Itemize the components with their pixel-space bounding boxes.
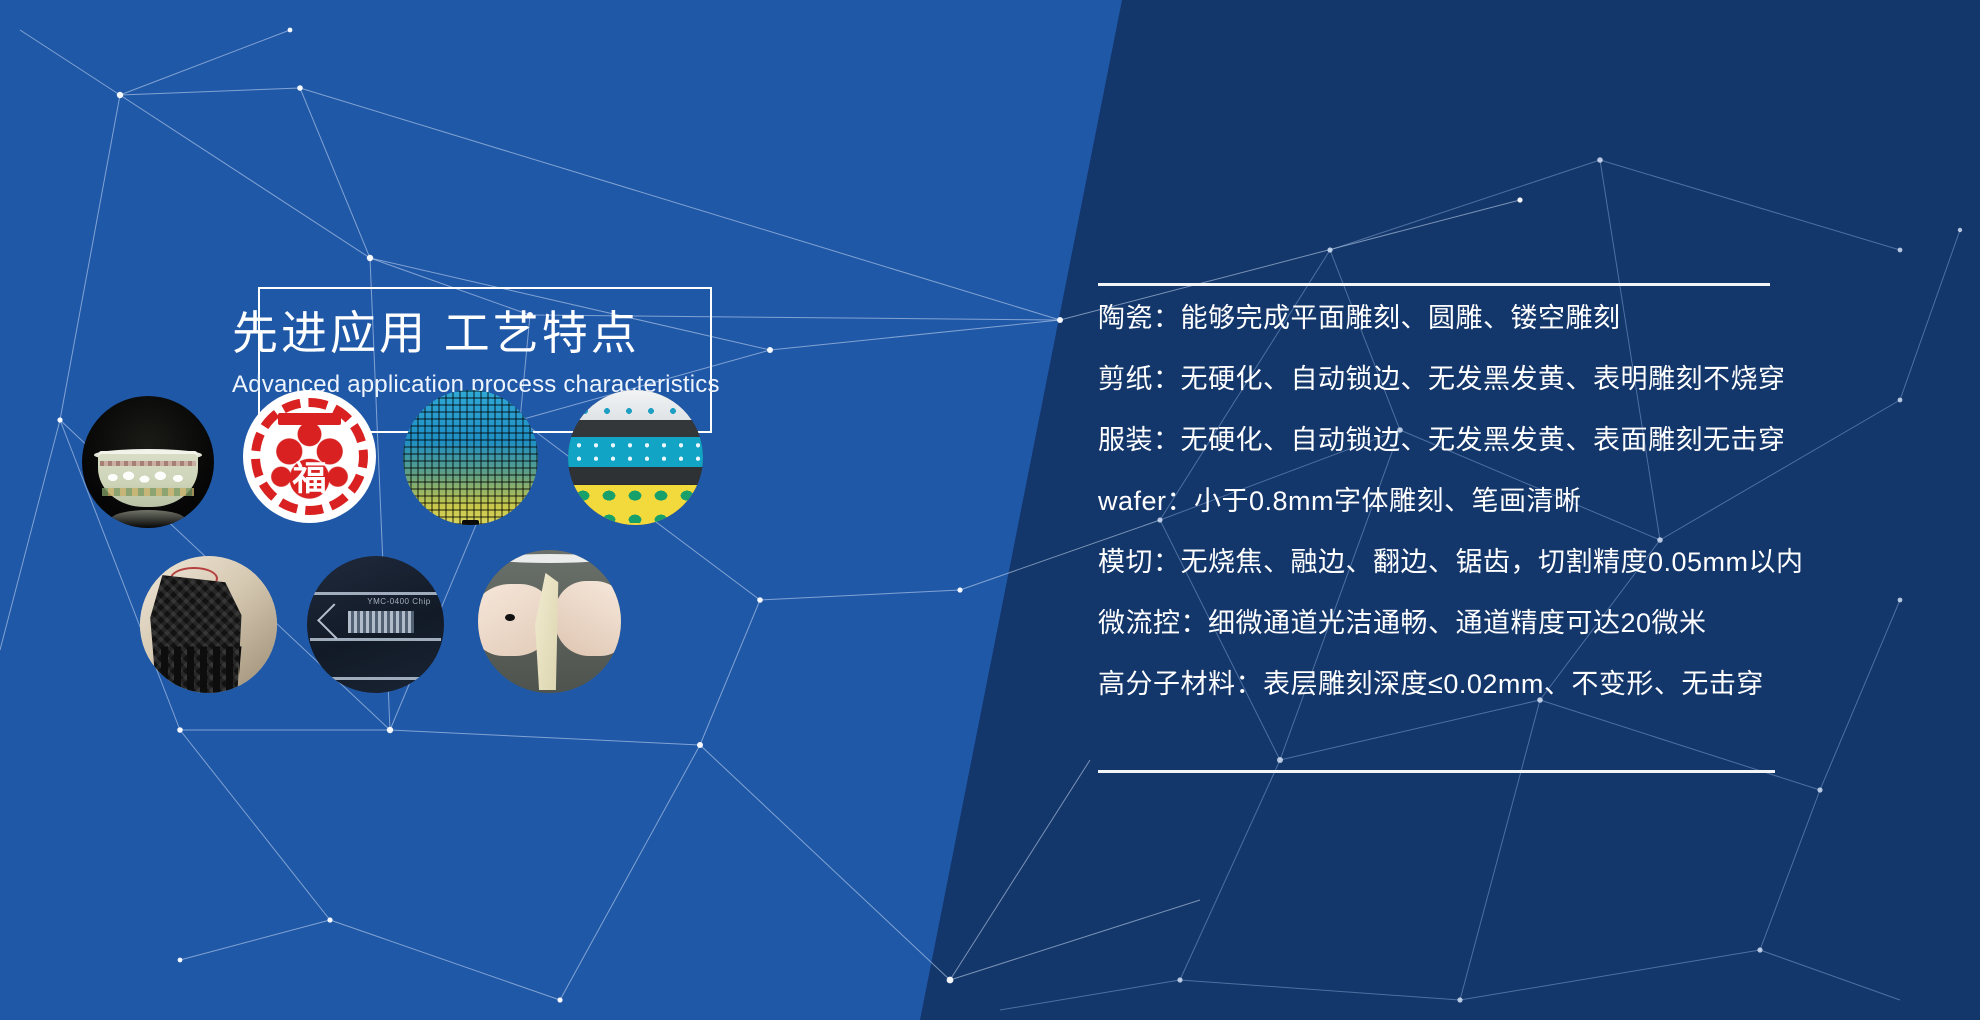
gallery-thumb-ceramic-bowl[interactable] — [82, 396, 214, 528]
patterned-chip-image — [568, 390, 703, 525]
mf-chip-label: YMC-0400 Chip — [367, 597, 430, 606]
spec-item-wafer: wafer：小于0.8mm字体雕刻、笔画清晰 — [1098, 488, 1908, 515]
chip-band-teal — [568, 437, 703, 467]
chip-yellow-caps — [571, 486, 701, 523]
garment-fringe — [148, 646, 249, 693]
spec-divider-bottom — [1098, 770, 1775, 773]
gloved-hand-right — [555, 581, 621, 655]
frame-edge-top-left — [258, 287, 408, 289]
slide-root: 先进应用 工艺特点 Advanced application process c… — [0, 0, 1980, 1020]
chip-band-white — [568, 390, 703, 420]
spec-item-polymer: 高分子材料：表层雕刻深度≤0.02mm、不变形、无击穿 — [1098, 671, 1908, 698]
chip-band-yellow — [568, 485, 703, 526]
mf-guide-line-2 — [310, 638, 442, 641]
fringed-garment-image — [140, 556, 277, 693]
spec-item-microfluidic: 微流控：细微通道光洁通畅、通道精度可达20微米 — [1098, 610, 1908, 637]
film-table-edge — [492, 554, 606, 563]
bowl-lower-band — [102, 488, 194, 496]
spec-item-ceramic: 陶瓷：能够完成平面雕刻、圆雕、镂空雕刻 — [1098, 305, 1908, 332]
polymer-film-image — [478, 550, 621, 693]
mf-guide-line-3 — [310, 677, 442, 680]
gallery-thumb-patterned-chip[interactable] — [568, 390, 703, 525]
bowl-engraving — [104, 469, 191, 486]
papercut-banner — [278, 413, 342, 425]
bowl-reflection — [111, 510, 185, 528]
paper-cut-image: 福 — [243, 390, 376, 523]
gallery-thumb-microfluidic-chip[interactable]: YMC-0400 Chip — [307, 556, 444, 693]
gallery-thumb-silicon-wafer[interactable] — [403, 390, 538, 525]
frame-edge-right — [710, 287, 712, 433]
gallery-thumb-polymer-film[interactable] — [478, 550, 621, 693]
microfluidic-chip-image: YMC-0400 Chip — [307, 556, 444, 693]
ceramic-bowl-image — [82, 396, 214, 528]
chip-band-white-dots — [579, 408, 692, 415]
spec-item-papercut: 剪纸：无硬化、自动锁边、无发黑发黄、表明雕刻不烧穿 — [1098, 366, 1908, 393]
spec-item-diecut: 模切：无烧焦、融边、翻边、锯齿，切割精度0.05mm以内 — [1098, 549, 1908, 576]
mf-serpentine-channel — [348, 611, 414, 633]
spec-item-apparel: 服装：无硬化、自动锁边、无发黑发黄、表面雕刻无击穿 — [1098, 427, 1908, 454]
spec-divider-top — [1098, 283, 1770, 286]
mf-guide-line-1 — [310, 592, 442, 595]
bowl-upper-band — [100, 461, 195, 466]
chip-band-dark-2 — [568, 467, 703, 485]
gallery-thumb-fringed-garment[interactable] — [140, 556, 277, 693]
gallery-thumb-paper-cut[interactable]: 福 — [243, 390, 376, 523]
spec-list: 陶瓷：能够完成平面雕刻、圆雕、镂空雕刻 剪纸：无硬化、自动锁边、无发黑发黄、表明… — [1098, 305, 1908, 698]
chip-teal-hole-rows — [571, 440, 701, 464]
page-title: 先进应用 工艺特点 — [232, 307, 640, 360]
frame-edge-top-right — [408, 287, 712, 289]
wafer-notch — [462, 520, 478, 525]
papercut-fu-glyph: 福 — [243, 462, 376, 496]
silicon-wafer-image — [403, 390, 538, 525]
chip-band-dark-1 — [568, 420, 703, 438]
